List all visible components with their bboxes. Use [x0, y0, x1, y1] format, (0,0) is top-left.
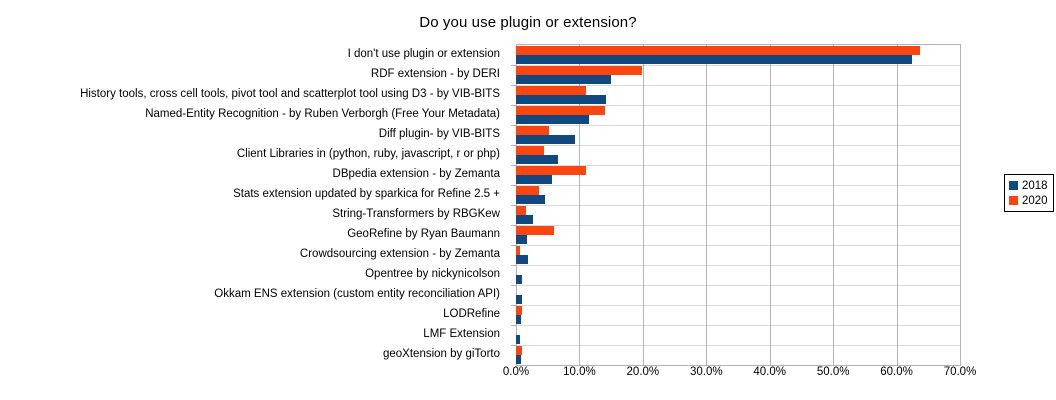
category-label: LODRefine — [0, 308, 500, 320]
category-label: String-Transformers by RBGKew — [0, 208, 500, 220]
value-tick-label: 70.0% — [920, 366, 1000, 378]
legend-item[interactable]: 2020 — [1009, 193, 1048, 208]
bar-2018 — [516, 255, 528, 264]
bar-2018 — [516, 215, 533, 224]
bar-2020 — [516, 346, 522, 355]
plot-area — [516, 44, 961, 366]
category-label: Okkam ENS extension (custom entity recon… — [0, 288, 500, 300]
bar-2018 — [516, 195, 545, 204]
bar-2018 — [516, 355, 521, 364]
value-gridline — [643, 45, 644, 365]
category-label: Stats extension updated by sparkica for … — [0, 188, 500, 200]
bar-chart: Do you use plugin or extension? I don't … — [0, 0, 1056, 400]
bar-2018 — [516, 155, 558, 164]
bar-2020 — [516, 306, 522, 315]
bar-2018 — [516, 135, 575, 144]
bar-2018 — [516, 335, 520, 344]
category-gridline — [516, 125, 960, 126]
category-gridline — [516, 185, 960, 186]
value-gridline — [770, 45, 771, 365]
category-gridline — [516, 245, 960, 246]
bar-2020 — [516, 246, 520, 255]
category-label: History tools, cross cell tools, pivot t… — [0, 88, 500, 100]
bar-2020 — [516, 146, 544, 155]
category-label: Client Libraries in (python, ruby, javas… — [0, 148, 500, 160]
bar-2018 — [516, 315, 521, 324]
category-label: RDF extension - by DERI — [0, 68, 500, 80]
category-gridline — [516, 265, 960, 266]
bar-2020 — [516, 66, 642, 75]
bar-2018 — [516, 55, 912, 64]
bar-2018 — [516, 235, 527, 244]
category-label: DBpedia extension - by Zemanta — [0, 168, 500, 180]
plot-inner — [516, 45, 960, 365]
bar-2020 — [516, 86, 586, 95]
category-axis: I don't use plugin or extensionRDF exten… — [0, 44, 508, 364]
bar-2018 — [516, 175, 552, 184]
legend-swatch-icon — [1009, 181, 1018, 190]
value-axis: 0.0%10.0%20.0%30.0%40.0%50.0%60.0%70.0% — [0, 366, 1056, 390]
category-gridline — [516, 205, 960, 206]
category-label: Named-Entity Recognition - by Ruben Verb… — [0, 108, 500, 120]
category-label: geoXtension by giTorto — [0, 348, 500, 360]
bar-2020 — [516, 166, 586, 175]
legend-label: 2020 — [1022, 195, 1048, 207]
category-label: I don't use plugin or extension — [0, 48, 500, 60]
bar-2020 — [516, 106, 605, 115]
legend-swatch-icon — [1009, 196, 1018, 205]
legend-item[interactable]: 2018 — [1009, 178, 1048, 193]
value-gridline — [897, 45, 898, 365]
category-label: GeoRefine by Ryan Baumann — [0, 228, 500, 240]
category-gridline — [516, 305, 960, 306]
chart-legend: 20182020 — [1004, 174, 1054, 212]
value-gridline — [960, 45, 961, 365]
bar-2018 — [516, 95, 606, 104]
legend-label: 2018 — [1022, 180, 1048, 192]
bar-2020 — [516, 206, 526, 215]
category-gridline — [516, 345, 960, 346]
category-label: LMF Extension — [0, 328, 500, 340]
bar-2020 — [516, 226, 554, 235]
bar-2020 — [516, 186, 539, 195]
bar-2020 — [516, 126, 549, 135]
bar-2018 — [516, 75, 611, 84]
bar-2020 — [516, 46, 920, 55]
bar-2018 — [516, 295, 522, 304]
chart-title: Do you use plugin or extension? — [0, 14, 1056, 31]
value-gridline — [706, 45, 707, 365]
category-label: Opentree by nickynicolson — [0, 268, 500, 280]
category-gridline — [516, 145, 960, 146]
category-label: Diff plugin- by VIB-BITS — [0, 128, 500, 140]
category-gridline — [516, 325, 960, 326]
category-label: Crowdsourcing extension - by Zemanta — [0, 248, 500, 260]
category-gridline — [516, 225, 960, 226]
bar-2018 — [516, 275, 522, 284]
category-gridline — [516, 285, 960, 286]
bar-2018 — [516, 115, 589, 124]
value-gridline — [833, 45, 834, 365]
